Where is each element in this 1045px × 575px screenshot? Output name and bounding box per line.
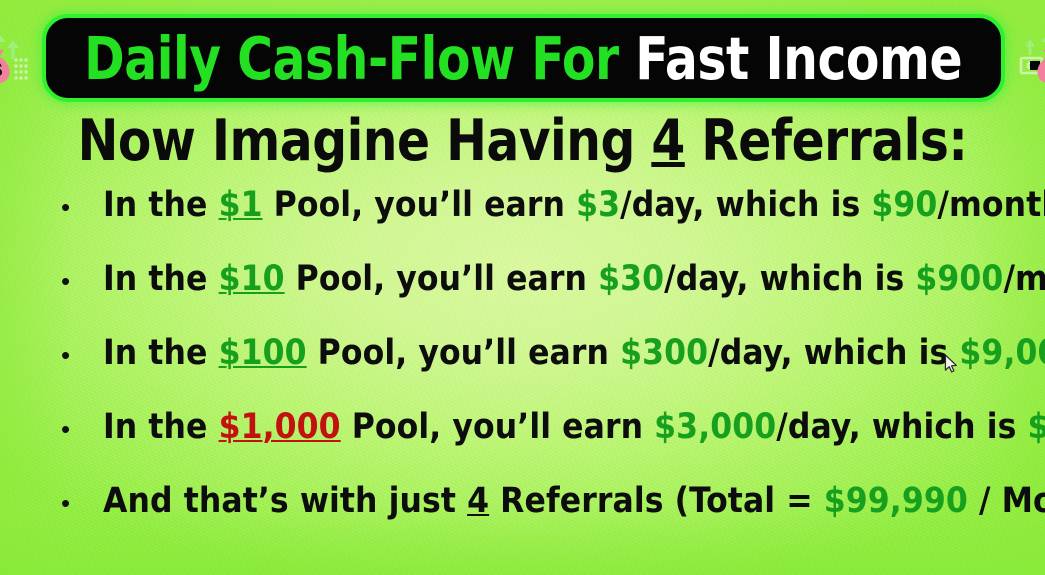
bullet-segment: In the [103, 185, 219, 225]
bullet-text: In the $1 Pool, you’ll earn $3/day, whic… [103, 186, 1045, 224]
bullet-segment: $1 [219, 185, 263, 225]
bullet-marker-icon: • [56, 490, 103, 516]
bullet-text: In the $10 Pool, you’ll earn $30/day, wh… [103, 260, 1045, 298]
bullet-segment: In the [103, 333, 219, 373]
bullet-segment: $300 [620, 333, 708, 373]
bullet-segment: Pool, you’ll earn [307, 333, 620, 373]
subtitle-before: Now Imagine Having [78, 108, 652, 174]
bullet-segment: $3 [576, 185, 620, 225]
banner-title-green: Daily Cash-Flow For [85, 24, 619, 93]
bullet-marker-icon: • [56, 194, 103, 220]
bullet-segment: $100 [219, 333, 307, 373]
bullet-segment: /day, which is [708, 333, 959, 373]
bullet-segment: In the [103, 259, 219, 299]
bullet-segment: Referrals (Total = [489, 481, 824, 521]
bullet-text: In the $100 Pool, you’ll earn $300/day, … [103, 334, 1045, 372]
bullet-segment: $99,990 [824, 481, 968, 521]
bullet-segment: Pool, you’ll earn [341, 407, 654, 447]
slide-canvas: $ Daily Cash-Flow For Fast Income [0, 0, 1045, 575]
bullet-segment: 4 [467, 481, 489, 521]
bullet-text: In the $1,000 Pool, you’ll earn $3,000/d… [103, 408, 1045, 446]
header-banner: $ Daily Cash-Flow For Fast Income [42, 14, 1005, 102]
bullet-segment: And that’s with just [103, 481, 467, 521]
slide-subtitle: Now Imagine Having 4 Referrals: [26, 106, 1019, 176]
bullet-segment: /month [1003, 259, 1045, 299]
banner-title: Daily Cash-Flow For Fast Income [85, 29, 963, 88]
bullet-row: •In the $1,000 Pool, you’ll earn $3,000/… [56, 408, 1025, 482]
bullet-segment: $1,000 [219, 407, 341, 447]
bullet-marker-icon: • [56, 342, 103, 368]
bullet-segment: $9,000 [959, 333, 1045, 373]
bullet-segment: $90,000 [1028, 407, 1045, 447]
bullet-row: •And that’s with just 4 Referrals (Total… [56, 482, 1025, 556]
banner-title-white: Fast Income [636, 24, 963, 93]
bullet-segment: $90 [871, 185, 937, 225]
bullet-text: And that’s with just 4 Referrals (Total … [103, 482, 1045, 520]
bullet-row: •In the $1 Pool, you’ll earn $3/day, whi… [56, 186, 1025, 260]
bullet-segment: In the [103, 407, 219, 447]
bullet-segment: $10 [219, 259, 285, 299]
bullet-segment: $30 [598, 259, 664, 299]
bullet-segment: Pool, you’ll earn [285, 259, 598, 299]
bullet-segment: /day, which is [620, 185, 871, 225]
bullet-segment: / Month!) [968, 481, 1045, 521]
money-bag-growth-icon: $ [1019, 30, 1045, 86]
bullet-segment: $3,000 [654, 407, 776, 447]
svg-text:$: $ [0, 60, 3, 81]
bullet-segment: $900 [915, 259, 1003, 299]
money-bag-growth-icon: $ [0, 30, 28, 86]
bullet-row: •In the $10 Pool, you’ll earn $30/day, w… [56, 260, 1025, 334]
bullet-segment: /month [937, 185, 1045, 225]
subtitle-emphasis: 4 [651, 108, 684, 174]
bullet-list: •In the $1 Pool, you’ll earn $3/day, whi… [56, 186, 1025, 556]
subtitle-after: Referrals: [685, 108, 968, 174]
bullet-row: •In the $100 Pool, you’ll earn $300/day,… [56, 334, 1025, 408]
bullet-segment: /day, which is [776, 407, 1027, 447]
bullet-segment: Pool, you’ll earn [263, 185, 576, 225]
bullet-marker-icon: • [56, 268, 103, 294]
bullet-marker-icon: • [56, 416, 103, 442]
bullet-segment: /day, which is [664, 259, 915, 299]
